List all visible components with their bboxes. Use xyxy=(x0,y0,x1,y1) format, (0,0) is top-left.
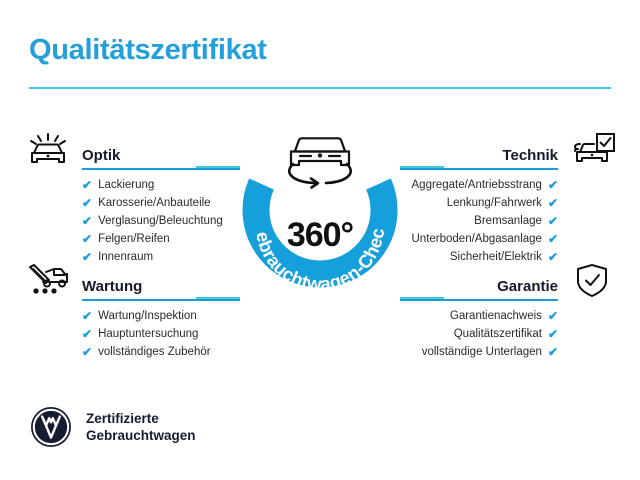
list-item: ✔Karosserie/Anbauteile xyxy=(22,194,240,212)
section-garantie-underline xyxy=(400,299,558,301)
section-wartung-title: Wartung xyxy=(82,278,142,295)
title-divider xyxy=(29,87,611,89)
section-optik: Optik ✔Lackierung ✔Karosserie/Anbauteile… xyxy=(22,132,240,266)
list-item: Garantienachweis✔ xyxy=(400,307,618,325)
car-wrench-icon xyxy=(24,263,72,299)
list-item-label: Lenkung/Fahrwerk xyxy=(447,194,542,212)
check-icon: ✔ xyxy=(82,212,92,230)
section-technik-list: Aggregate/Antriebsstrang✔ Lenkung/Fahrwe… xyxy=(400,176,618,266)
list-item: ✔Hauptuntersuchung xyxy=(22,325,240,343)
qualitaetszertifikat-page: Qualitätszertifikat xyxy=(0,0,640,480)
list-item-label: Garantienachweis xyxy=(450,307,542,325)
list-item-label: vollständiges Zubehör xyxy=(98,343,211,361)
car-checkbox-icon xyxy=(568,132,616,168)
section-technik-header: Technik xyxy=(400,132,618,170)
check-icon: ✔ xyxy=(82,307,92,325)
list-item-label: Unterboden/Abgasanlage xyxy=(412,230,542,248)
section-technik-underline xyxy=(400,168,558,170)
shield-check-icon xyxy=(568,263,616,299)
list-item-label: vollständige Unterlagen xyxy=(422,343,542,361)
list-item-label: Hauptuntersuchung xyxy=(98,325,198,343)
list-item: ✔vollständiges Zubehör xyxy=(22,343,240,361)
car-shine-icon xyxy=(24,132,72,168)
vw-logo-icon xyxy=(29,405,73,449)
section-garantie-title: Garantie xyxy=(497,278,558,295)
section-optik-header: Optik xyxy=(22,132,240,170)
list-item-label: Bremsanlage xyxy=(474,212,542,230)
section-optik-title: Optik xyxy=(82,147,120,164)
check-icon: ✔ xyxy=(548,325,558,343)
check-icon: ✔ xyxy=(82,343,92,361)
section-garantie: Garantie Garantienachweis✔ Qualitätszert… xyxy=(400,263,618,361)
list-item: ✔Wartung/Inspektion xyxy=(22,307,240,325)
badge-center-label: 360° xyxy=(228,216,412,255)
check-icon: ✔ xyxy=(548,176,558,194)
check-icon: ✔ xyxy=(548,343,558,361)
list-item: Bremsanlage✔ xyxy=(400,212,618,230)
section-garantie-header: Garantie xyxy=(400,263,618,301)
list-item-label: Verglasung/Beleuchtung xyxy=(98,212,223,230)
check-icon: ✔ xyxy=(82,230,92,248)
section-wartung-header: Wartung xyxy=(22,263,240,301)
list-item-label: Karosserie/Anbauteile xyxy=(98,194,211,212)
section-optik-list: ✔Lackierung ✔Karosserie/Anbauteile ✔Verg… xyxy=(22,176,240,266)
list-item: ✔Felgen/Reifen xyxy=(22,230,240,248)
check-icon: ✔ xyxy=(82,325,92,343)
check-icon: ✔ xyxy=(82,194,92,212)
section-wartung-list: ✔Wartung/Inspektion ✔Hauptuntersuchung ✔… xyxy=(22,307,240,361)
section-technik: Technik Aggregate/Antriebsstrang✔ Lenkun… xyxy=(400,132,618,266)
section-optik-underline xyxy=(82,168,240,170)
footer-brand-text: Zertifizierte Gebrauchtwagen xyxy=(86,410,196,444)
check-icon: ✔ xyxy=(548,194,558,212)
list-item-label: Aggregate/Antriebsstrang xyxy=(412,176,542,194)
check-icon: ✔ xyxy=(548,307,558,325)
list-item-label: Qualitätszertifikat xyxy=(454,325,542,343)
badge-360-gebrauchtwagen-check: Gebrauchtwagen-Check xyxy=(228,118,412,308)
list-item-label: Lackierung xyxy=(98,176,154,194)
page-title: Qualitätszertifikat xyxy=(29,34,267,67)
list-item-label: Wartung/Inspektion xyxy=(98,307,197,325)
check-icon: ✔ xyxy=(548,230,558,248)
footer-brand: Zertifizierte Gebrauchtwagen xyxy=(29,405,196,449)
section-garantie-list: Garantienachweis✔ Qualitätszertifikat✔ v… xyxy=(400,307,618,361)
footer-line-2: Gebrauchtwagen xyxy=(86,427,196,444)
section-wartung: Wartung ✔Wartung/Inspektion ✔Hauptunters… xyxy=(22,263,240,361)
section-wartung-underline xyxy=(82,299,240,301)
check-icon: ✔ xyxy=(82,176,92,194)
list-item: ✔Lackierung xyxy=(22,176,240,194)
list-item: vollständige Unterlagen✔ xyxy=(400,343,618,361)
list-item: ✔Verglasung/Beleuchtung xyxy=(22,212,240,230)
list-item-label: Felgen/Reifen xyxy=(98,230,170,248)
section-technik-title: Technik xyxy=(502,147,558,164)
list-item: Qualitätszertifikat✔ xyxy=(400,325,618,343)
check-icon: ✔ xyxy=(548,212,558,230)
footer-line-1: Zertifizierte xyxy=(86,410,196,427)
list-item: Lenkung/Fahrwerk✔ xyxy=(400,194,618,212)
list-item: Unterboden/Abgasanlage✔ xyxy=(400,230,618,248)
list-item: Aggregate/Antriebsstrang✔ xyxy=(400,176,618,194)
